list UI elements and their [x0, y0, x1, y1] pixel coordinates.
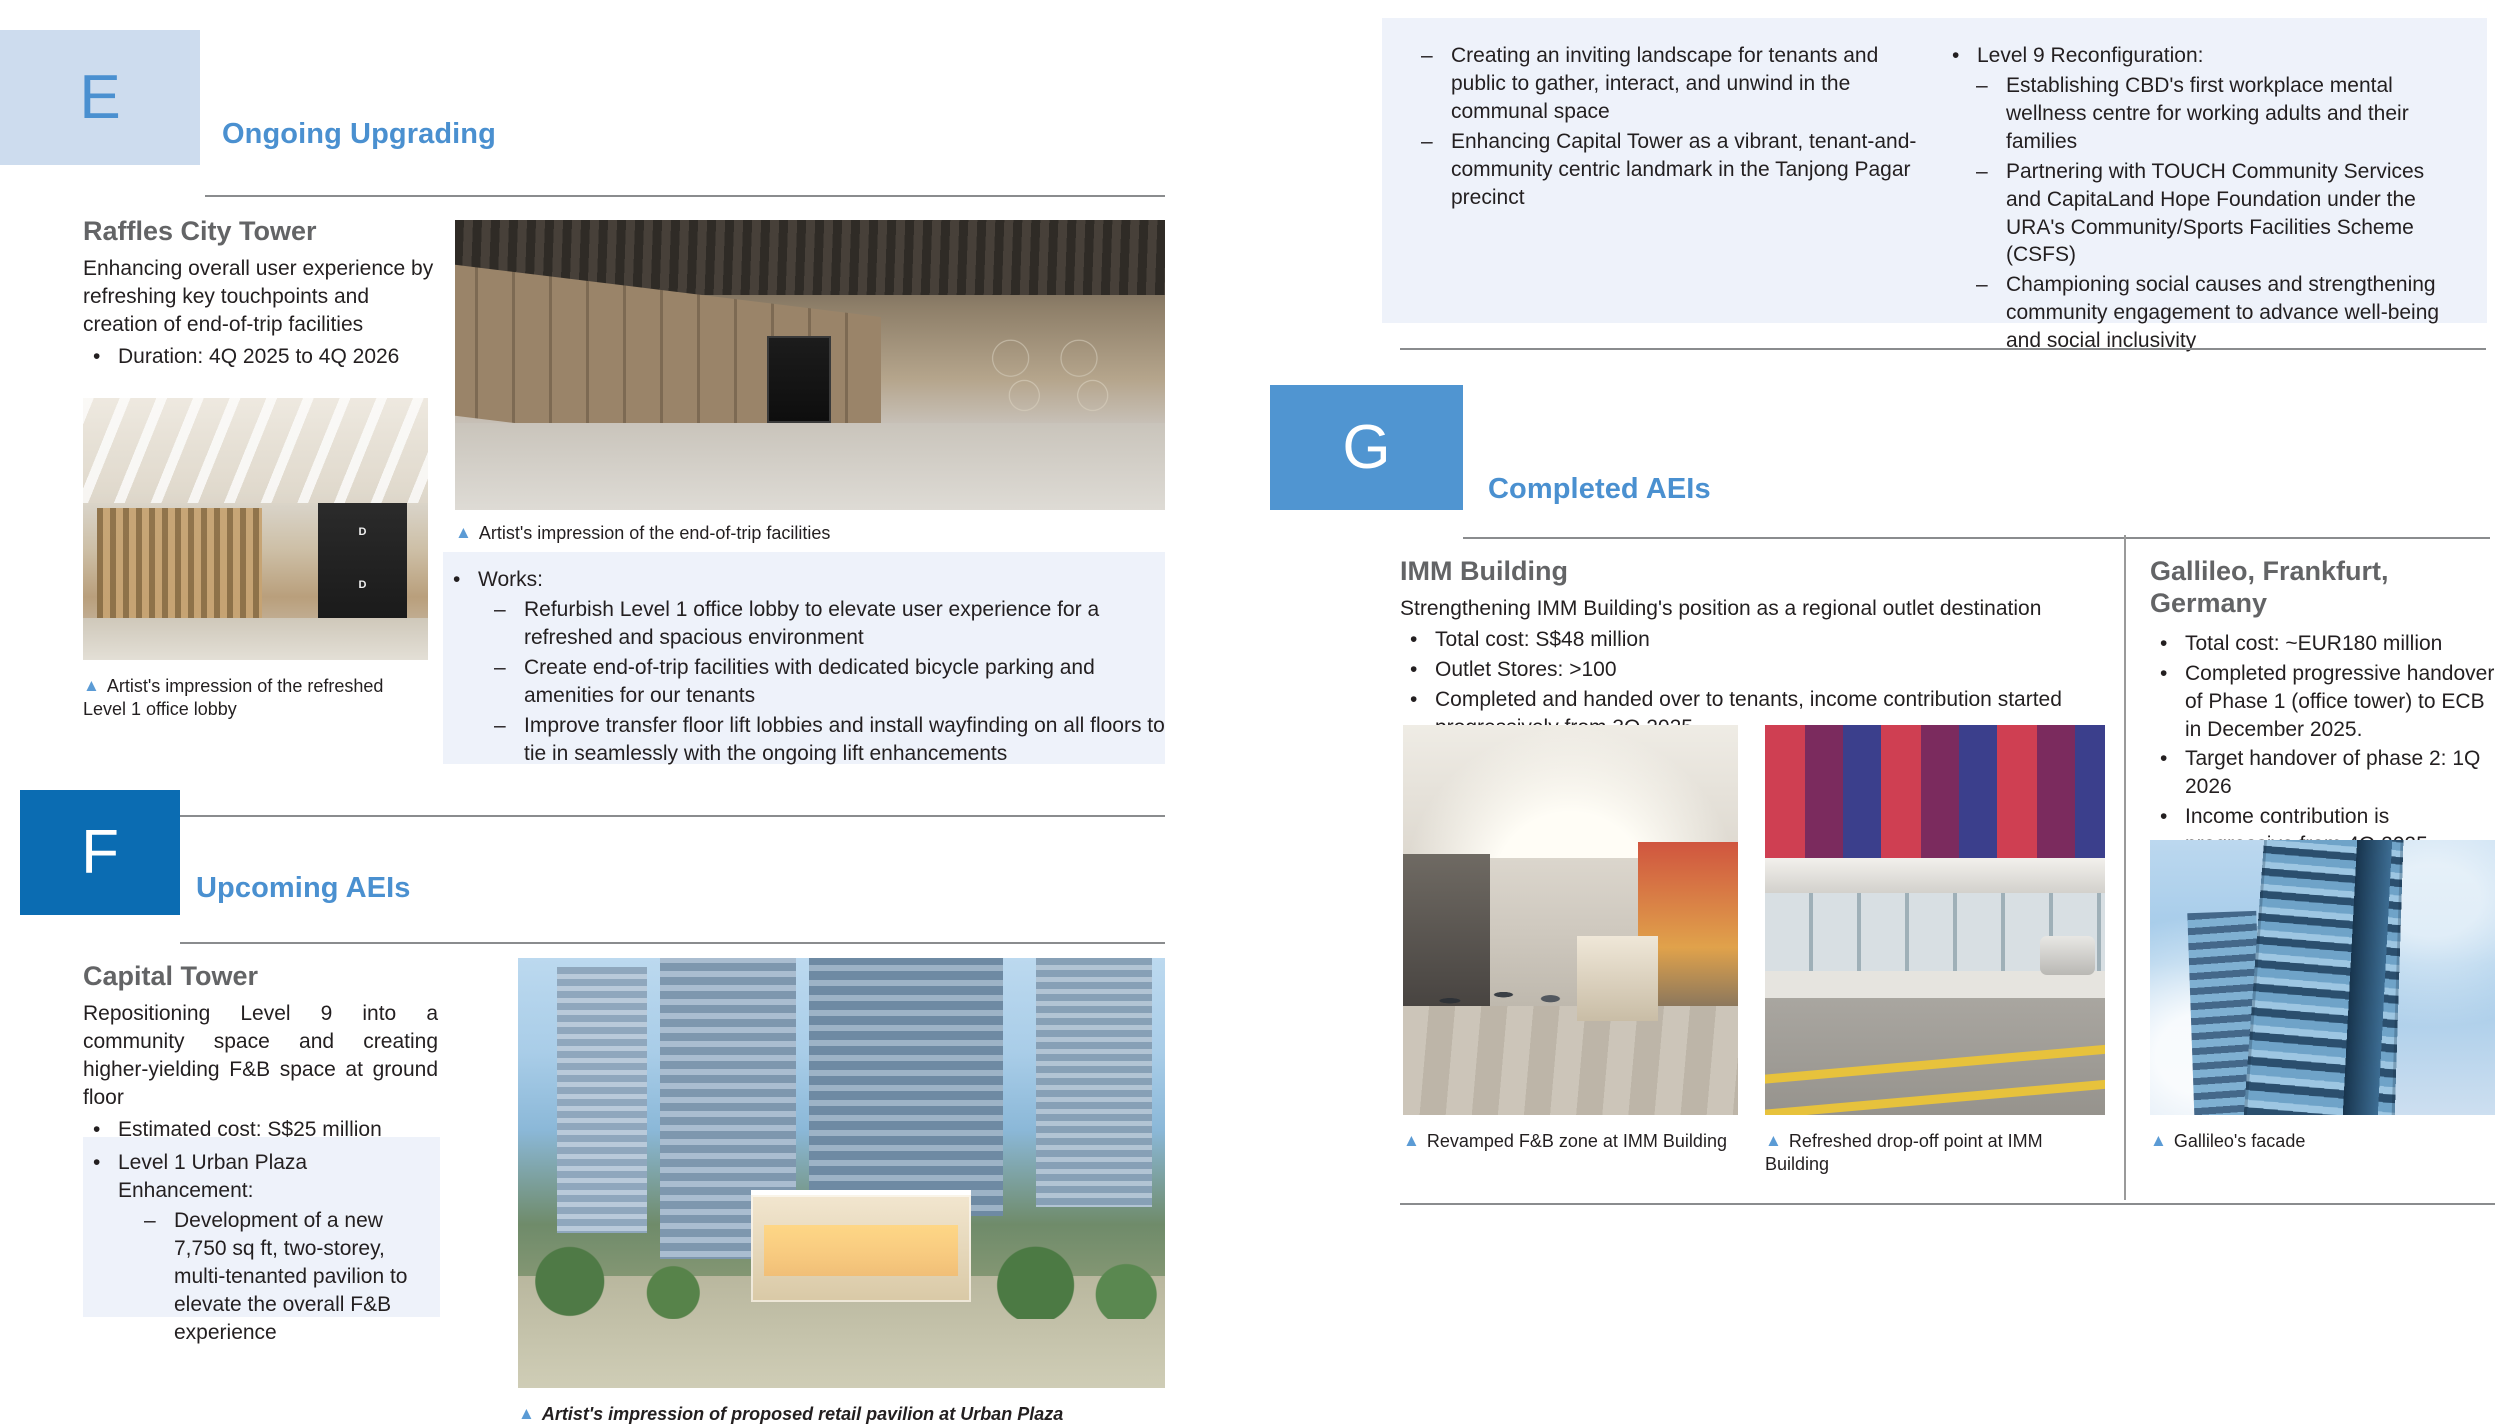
lobby-floor	[83, 618, 428, 660]
urban-plaza-image	[518, 958, 1165, 1388]
shoppers-detail	[1403, 928, 1738, 1029]
galileo-column-divider	[2124, 535, 2126, 1200]
caption-marker-icon: ▲	[1403, 1132, 1420, 1149]
section-f: F Upcoming AEIs Capital Tower Reposition…	[0, 790, 1180, 1346]
section-e: E Ongoing Upgrading Raffles City Tower E…	[0, 30, 1180, 770]
end-of-trip-caption-text: Artist's impression of the end-of-trip f…	[479, 523, 831, 543]
section-e-rule	[205, 195, 1165, 197]
section-e-title: Ongoing Upgrading	[222, 118, 496, 151]
section-g-letter: G	[1342, 417, 1390, 479]
list-item: Create end-of-trip facilities with dedic…	[490, 654, 1165, 710]
capital-tower-continued-right: Level 9 Reconfiguration: Establishing CB…	[1942, 40, 2462, 355]
raffles-city-tower-block: Raffles City Tower Enhancing overall use…	[83, 215, 443, 371]
list-item: Level 1 Urban Plaza Enhancement:	[83, 1149, 440, 1205]
urban-plaza-caption: ▲Artist's impression of proposed retail …	[518, 1403, 1158, 1426]
section-f-title: Upcoming AEIs	[196, 872, 411, 905]
works-box: Works: Refurbish Level 1 office lobby to…	[443, 552, 1165, 764]
urban-plaza-list: Level 1 Urban Plaza Enhancement:	[83, 1137, 440, 1205]
capital-tower-intro: Repositioning Level 9 into a community s…	[83, 1000, 438, 1112]
tower-detail	[1036, 958, 1152, 1207]
urban-plaza-sublist: Development of a new 7,750 sq ft, two-st…	[83, 1207, 440, 1347]
end-of-trip-image	[455, 220, 1165, 510]
imm-building-name: IMM Building	[1400, 555, 2140, 587]
list-item: Refurbish Level 1 office lobby to elevat…	[490, 596, 1165, 652]
section-e-letter: E	[79, 67, 120, 129]
section-f-badge: F	[20, 790, 180, 915]
section-g-rule	[1463, 537, 2490, 539]
section-g-bottom-rule	[1400, 1203, 2495, 1205]
raffles-city-tower-bullets: Duration: 4Q 2025 to 4Q 2026	[83, 343, 443, 371]
list-item: Level 9 Reconfiguration:	[1942, 42, 2462, 70]
section-f-header: F Upcoming AEIs	[0, 790, 1165, 915]
list-item: Target handover of phase 2: 1Q 2026	[2150, 745, 2495, 801]
list-item: Partnering with TOUCH Community Services…	[1972, 158, 2462, 270]
right-column-divider-rule	[1400, 348, 2486, 350]
lift-indicator-line-1: D	[358, 526, 366, 538]
galileo-bullets: Total cost: ~EUR180 million Completed pr…	[2150, 630, 2495, 859]
section-e-badge: E	[0, 30, 200, 165]
section-e-header: E Ongoing Upgrading	[0, 30, 1165, 165]
tower-detail	[809, 958, 1003, 1216]
fb-kiosk-detail	[1577, 936, 1657, 1022]
imm-fb-zone-caption-text: Revamped F&B zone at IMM Building	[1427, 1131, 1727, 1151]
list-item: Total cost: S$48 million	[1400, 626, 2140, 654]
imm-building-block: IMM Building Strengthening IMM Building'…	[1400, 555, 2140, 742]
list-item: Outlet Stores: >100	[1400, 656, 2140, 684]
refreshed-lobby-image: D D	[83, 398, 428, 660]
section-g: G Completed AEIs IMM Building Strengthen…	[1270, 385, 2500, 1205]
lift-indicator-panel: D D	[318, 503, 408, 634]
section-g-badge: G	[1270, 385, 1463, 510]
floor-detail	[455, 423, 1165, 510]
list-item: Establishing CBD's first workplace menta…	[1972, 72, 2462, 156]
caption-marker-icon: ▲	[455, 524, 472, 541]
caption-marker-icon: ▲	[2150, 1132, 2167, 1149]
galileo-facade-image	[2150, 840, 2495, 1115]
urban-plaza-caption-text: Artist's impression of proposed retail p…	[542, 1404, 1063, 1424]
imm-dropoff-caption-text: Refreshed drop-off point at IMM Building	[1765, 1131, 2043, 1174]
capital-tower-continued-left: Creating an inviting landscape for tenan…	[1417, 40, 1922, 212]
lift-indicator-line-2: D	[358, 579, 366, 591]
section-g-header: G Completed AEIs	[1270, 385, 2490, 510]
list-item: Improve transfer floor lift lobbies and …	[490, 712, 1165, 768]
section-f-letter: F	[81, 822, 119, 884]
list-item: Completed progressive handover of Phase …	[2150, 660, 2495, 744]
imm-dropoff-caption: ▲Refreshed drop-off point at IMM Buildin…	[1765, 1130, 2055, 1177]
tower-detail	[557, 967, 648, 1234]
caption-marker-icon: ▲	[83, 677, 100, 694]
refreshed-lobby-caption: ▲Artist's impression of the refreshed Le…	[83, 675, 413, 722]
vending-kiosk-detail	[767, 336, 831, 423]
coloured-facade-detail	[1765, 725, 2105, 865]
mall-ceiling-detail	[1403, 725, 1738, 858]
caption-marker-icon: ▲	[1765, 1132, 1782, 1149]
galileo-block: Gallileo, Frankfurt, Germany Total cost:…	[2150, 555, 2495, 859]
imm-fb-zone-image	[1403, 725, 1738, 1115]
caption-marker-icon: ▲	[518, 1405, 535, 1422]
raffles-city-tower-name: Raffles City Tower	[83, 215, 443, 247]
list-item: Duration: 4Q 2025 to 4Q 2026	[83, 343, 443, 371]
imm-fb-zone-caption: ▲Revamped F&B zone at IMM Building	[1403, 1130, 1733, 1153]
capital-tower-name: Capital Tower	[83, 960, 438, 992]
list-item: Enhancing Capital Tower as a vibrant, te…	[1417, 128, 1922, 212]
works-sublist: Refurbish Level 1 office lobby to elevat…	[443, 596, 1165, 768]
list-item: Championing social causes and strengthen…	[1972, 271, 2462, 355]
urban-plaza-box: Level 1 Urban Plaza Enhancement: Develop…	[83, 1137, 440, 1317]
end-of-trip-caption: ▲Artist's impression of the end-of-trip …	[455, 522, 1075, 545]
list-item: Creating an inviting landscape for tenan…	[1417, 42, 1922, 126]
galileo-name: Gallileo, Frankfurt, Germany	[2150, 555, 2495, 620]
imm-building-intro: Strengthening IMM Building's position as…	[1400, 595, 2140, 623]
list-item: Works:	[443, 566, 1165, 594]
section-f-rule	[180, 942, 1165, 944]
imm-dropoff-image	[1765, 725, 2105, 1115]
pavilion-lighting-detail	[764, 1225, 958, 1277]
level-9-heading-list: Level 9 Reconfiguration:	[1942, 42, 2462, 70]
section-g-title: Completed AEIs	[1488, 473, 1711, 506]
galileo-facade-caption: ▲Gallileo's facade	[2150, 1130, 2470, 1153]
bicycle-rack-detail	[973, 319, 1143, 418]
works-list: Works:	[443, 552, 1165, 594]
list-item: Development of a new 7,750 sq ft, two-st…	[140, 1207, 440, 1347]
capital-tower-continuation-box: Creating an inviting landscape for tenan…	[1382, 18, 2487, 323]
level-9-sublist: Establishing CBD's first workplace menta…	[1942, 72, 2462, 355]
galileo-facade-caption-text: Gallileo's facade	[2174, 1131, 2306, 1151]
vehicle-detail	[2040, 936, 2094, 975]
list-item: Total cost: ~EUR180 million	[2150, 630, 2495, 658]
refreshed-lobby-caption-text: Artist's impression of the refreshed Lev…	[83, 676, 383, 719]
canopy-detail	[1765, 858, 2105, 897]
raffles-city-tower-intro: Enhancing overall user experience by ref…	[83, 255, 443, 339]
